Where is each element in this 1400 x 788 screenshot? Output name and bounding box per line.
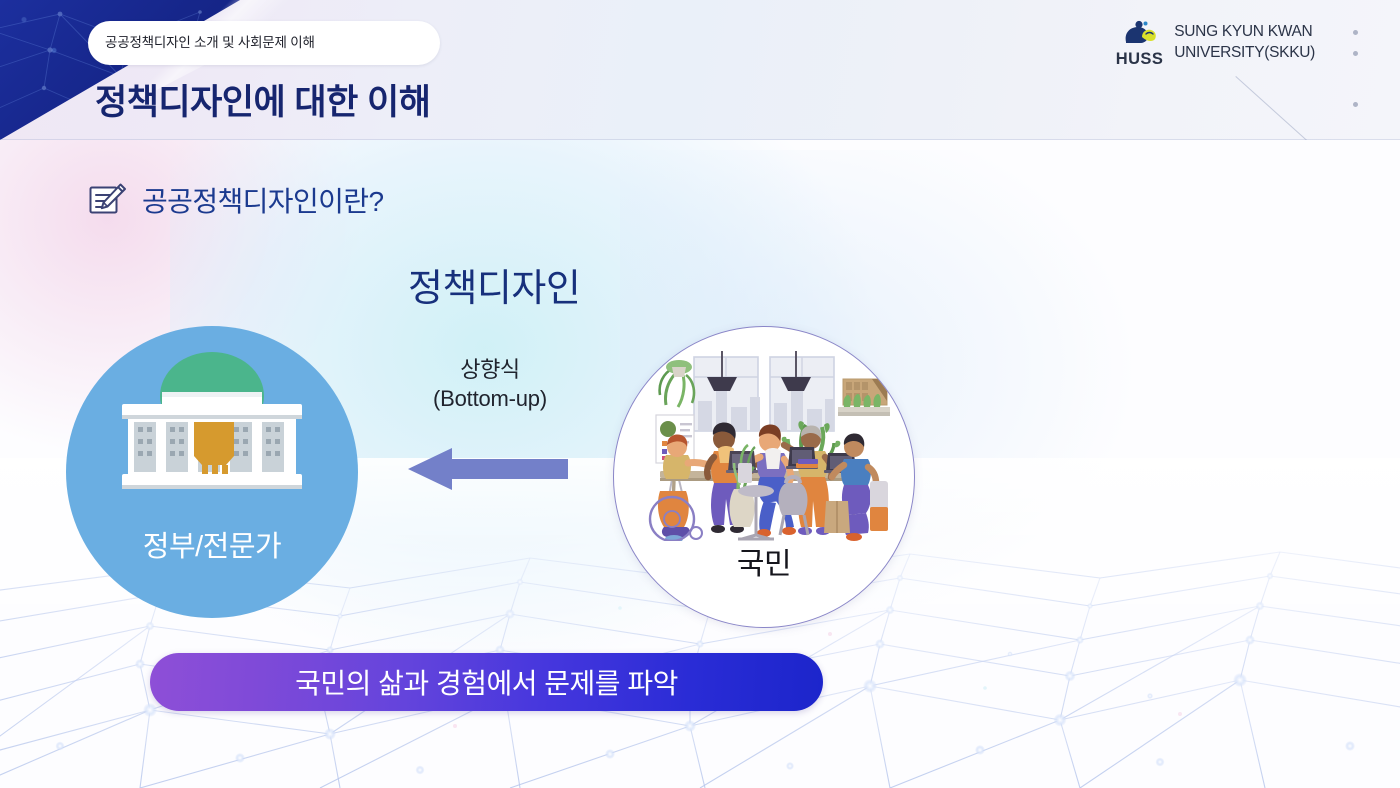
breadcrumb-label: 공공정책디자인 소개 및 사회문제 이해 bbox=[105, 34, 315, 51]
logo-name-line-1: SUNG KYUN KWAN bbox=[1174, 20, 1315, 41]
logo-university-name: SUNG KYUN KWAN UNIVERSITY(SKKU) bbox=[1174, 20, 1315, 62]
decorative-dot bbox=[1353, 51, 1358, 56]
section-heading: 공공정책디자인이란? bbox=[88, 180, 383, 220]
page-title: 정책디자인에 대한 이해 bbox=[95, 74, 430, 125]
left-arrow-icon bbox=[408, 448, 568, 490]
arrow-label-korean: 상향식 bbox=[390, 355, 590, 384]
slide-canvas: 공공정책디자인 소개 및 사회문제 이해 정책디자인에 대한 이해 HUSS S… bbox=[0, 0, 1400, 788]
logo-huss-text: HUSS bbox=[1116, 51, 1163, 68]
key-message-text: 국민의 삶과 경험에서 문제를 파악 bbox=[295, 662, 678, 702]
government-node-label: 정부/전문가 bbox=[66, 523, 358, 565]
huss-logo-icon bbox=[1120, 20, 1160, 46]
diagram-center-title: 정책디자인 bbox=[408, 257, 580, 312]
citizens-collaboration-icon bbox=[638, 351, 890, 541]
diagram-node-citizens[interactable]: 국민 bbox=[613, 326, 915, 628]
logo-name-line-2: UNIVERSITY(SKKU) bbox=[1174, 41, 1315, 62]
section-heading-label: 공공정책디자인이란? bbox=[142, 180, 383, 220]
citizens-node-label: 국민 bbox=[614, 539, 914, 583]
decorative-dot bbox=[1353, 102, 1358, 107]
arrow-label-group: 상향식 (Bottom-up) bbox=[390, 355, 590, 414]
arrow-label-english: (Bottom-up) bbox=[390, 384, 590, 413]
brand-logo: HUSS SUNG KYUN KWAN UNIVERSITY(SKKU) bbox=[1116, 20, 1315, 68]
header-diagonal-line bbox=[1162, 76, 1347, 140]
decorative-dot bbox=[1353, 30, 1358, 35]
key-message-banner[interactable]: 국민의 삶과 경험에서 문제를 파악 bbox=[150, 653, 823, 711]
government-building-icon bbox=[106, 352, 318, 504]
diagram-node-government[interactable]: 정부/전문가 bbox=[66, 326, 358, 618]
header-decorative-dots bbox=[1353, 30, 1358, 107]
logo-mark-column: HUSS bbox=[1116, 20, 1163, 68]
memo-pencil-icon bbox=[88, 182, 128, 218]
breadcrumb[interactable]: 공공정책디자인 소개 및 사회문제 이해 bbox=[88, 21, 440, 65]
